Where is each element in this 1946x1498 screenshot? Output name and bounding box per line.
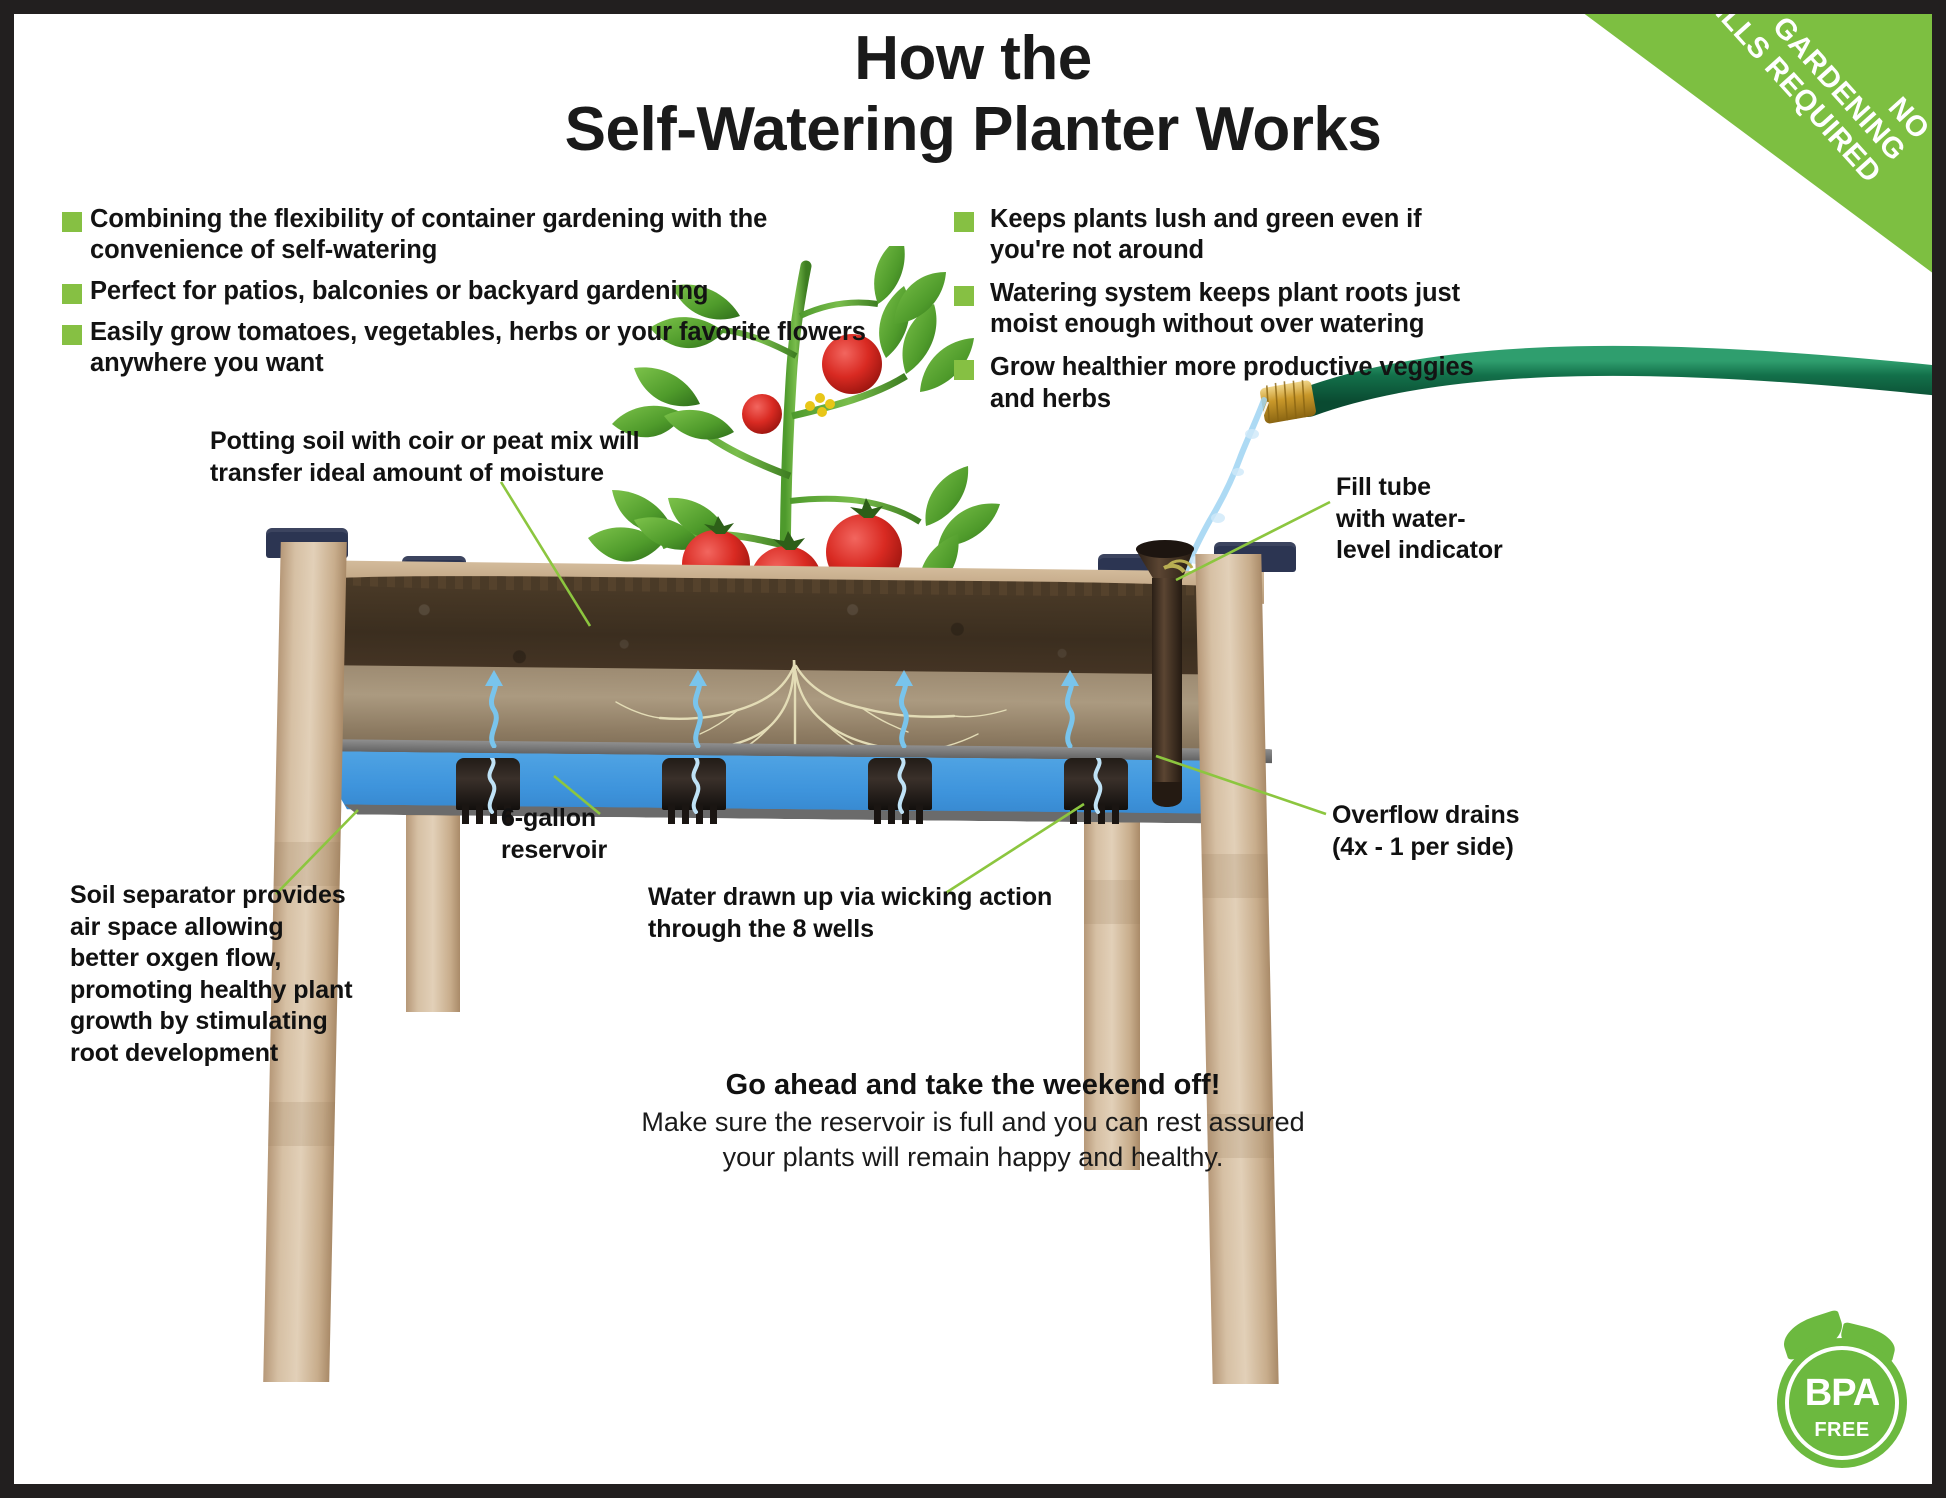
list-item: Perfect for patios, balconies or backyar…: [62, 276, 892, 307]
leg-grain-band: [1084, 880, 1140, 924]
leg-grain-band: [1202, 854, 1269, 898]
feature-list-right: Keeps plants lush and green even if you'…: [954, 204, 1494, 427]
footer-message: Go ahead and take the weekend off! Make …: [14, 1066, 1932, 1175]
wick-squiggle: [482, 758, 502, 814]
list-item-label: Keeps plants lush and green even if you'…: [990, 204, 1494, 266]
wicking-arrow: [686, 668, 710, 748]
list-item: Watering system keeps plant roots just m…: [954, 278, 1494, 340]
bullet-square-icon: [954, 286, 974, 306]
poster-inner: How the Self-Watering Planter Works NO G…: [14, 14, 1932, 1484]
badge-free-label: FREE: [1774, 1420, 1910, 1440]
footer-line-2: Make sure the reservoir is full and you …: [14, 1105, 1932, 1140]
feature-list-left: Combining the flexibility of container g…: [62, 204, 892, 390]
footer-headline: Go ahead and take the weekend off!: [14, 1066, 1932, 1105]
wick-squiggle: [892, 758, 912, 814]
callout-reservoir: 6-gallon reservoir: [501, 803, 607, 866]
callout-overflow-drains: Overflow drains (4x - 1 per side): [1332, 800, 1519, 863]
wicking-arrow: [1058, 668, 1082, 748]
callout-potting-soil: Potting soil with coir or peat mix will …: [210, 426, 639, 489]
list-item: Keeps plants lush and green even if you'…: [954, 204, 1494, 266]
callout-soil-separator: Soil separator provides air space allowi…: [70, 880, 352, 1069]
wick-squiggle: [1088, 758, 1108, 814]
footer-line-3: your plants will remain happy and health…: [14, 1140, 1932, 1175]
wick-squiggle: [686, 758, 706, 814]
list-item-label: Watering system keeps plant roots just m…: [990, 278, 1494, 340]
list-item-label: Easily grow tomatoes, vegetables, herbs …: [90, 317, 892, 379]
bpa-free-badge: BPA FREE: [1774, 1312, 1910, 1468]
title-line-2: Self-Watering Planter Works: [14, 95, 1932, 166]
callout-wicking-action: Water drawn up via wicking action throug…: [648, 882, 1052, 945]
bullet-square-icon: [62, 325, 82, 345]
list-item-label: Perfect for patios, balconies or backyar…: [90, 276, 708, 307]
badge-bpa-label: BPA: [1774, 1374, 1910, 1412]
list-item: Combining the flexibility of container g…: [62, 204, 892, 266]
bullet-square-icon: [62, 212, 82, 232]
list-item: Grow healthier more productive veggies a…: [954, 352, 1494, 414]
title-line-1: How the: [14, 24, 1932, 95]
list-item: Easily grow tomatoes, vegetables, herbs …: [62, 317, 892, 379]
bullet-square-icon: [954, 360, 974, 380]
wicking-arrow: [892, 668, 916, 748]
infographic-poster: How the Self-Watering Planter Works NO G…: [0, 0, 1946, 1498]
callout-fill-tube: Fill tube with water- level indicator: [1336, 472, 1503, 567]
wicking-arrow: [482, 668, 506, 748]
planter-leg-front-right: [1195, 554, 1278, 1384]
page-title: How the Self-Watering Planter Works: [14, 24, 1932, 165]
bullet-square-icon: [954, 212, 974, 232]
bullet-square-icon: [62, 284, 82, 304]
list-item-label: Combining the flexibility of container g…: [90, 204, 892, 266]
list-item-label: Grow healthier more productive veggies a…: [990, 352, 1494, 414]
